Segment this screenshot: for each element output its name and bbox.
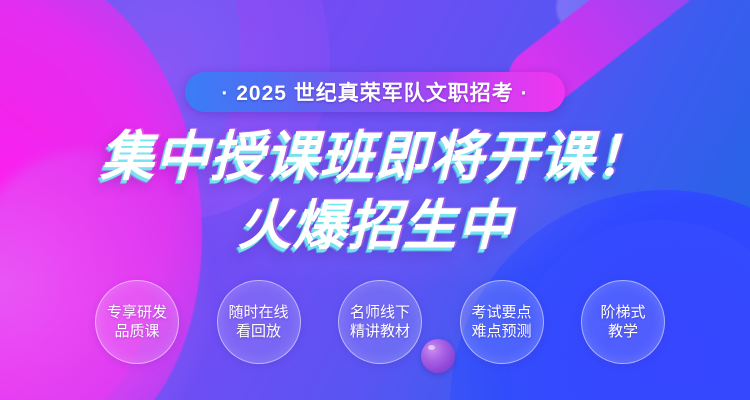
feature-circle-2-line1: 随时在线 (228, 303, 288, 322)
feature-circle-1[interactable]: 专享研发 品质课 (95, 280, 179, 364)
feature-circle-1-line1: 专享研发 (107, 303, 167, 322)
feature-circle-3[interactable]: 名师线下 精讲教材 (338, 280, 422, 364)
headline-secondary: 火爆招生中 (0, 196, 750, 256)
feature-circle-3-line1: 名师线下 (350, 303, 410, 322)
feature-circle-list: 专享研发 品质课 随时在线 看回放 名师线下 精讲教材 考试要点 难点预测 阶梯… (95, 280, 665, 364)
feature-circle-5-line1: 阶梯式 (600, 303, 645, 322)
feature-circle-5-line2: 教学 (608, 322, 638, 341)
course-title-pill-label: · 2025 世纪真荣军队文职招考 · (221, 77, 528, 107)
feature-circle-4[interactable]: 考试要点 难点预测 (460, 280, 544, 364)
feature-circle-5[interactable]: 阶梯式 教学 (581, 280, 665, 364)
promo-banner: · 2025 世纪真荣军队文职招考 · 集中授课班即将开课！ 火爆招生中 专享研… (0, 0, 750, 400)
course-title-pill: · 2025 世纪真荣军队文职招考 · (185, 72, 565, 112)
background-streak-soft (546, 0, 750, 44)
feature-circle-1-line2: 品质课 (114, 322, 159, 341)
headline-primary: 集中授课班即将开课！ (0, 127, 750, 187)
feature-circle-2[interactable]: 随时在线 看回放 (217, 280, 301, 364)
background-glow-center (150, 90, 620, 290)
feature-circle-2-line2: 看回放 (236, 322, 281, 341)
feature-circle-3-line2: 精讲教材 (350, 322, 410, 341)
feature-circle-4-line2: 难点预测 (471, 322, 531, 341)
feature-circle-4-line1: 考试要点 (471, 303, 531, 322)
